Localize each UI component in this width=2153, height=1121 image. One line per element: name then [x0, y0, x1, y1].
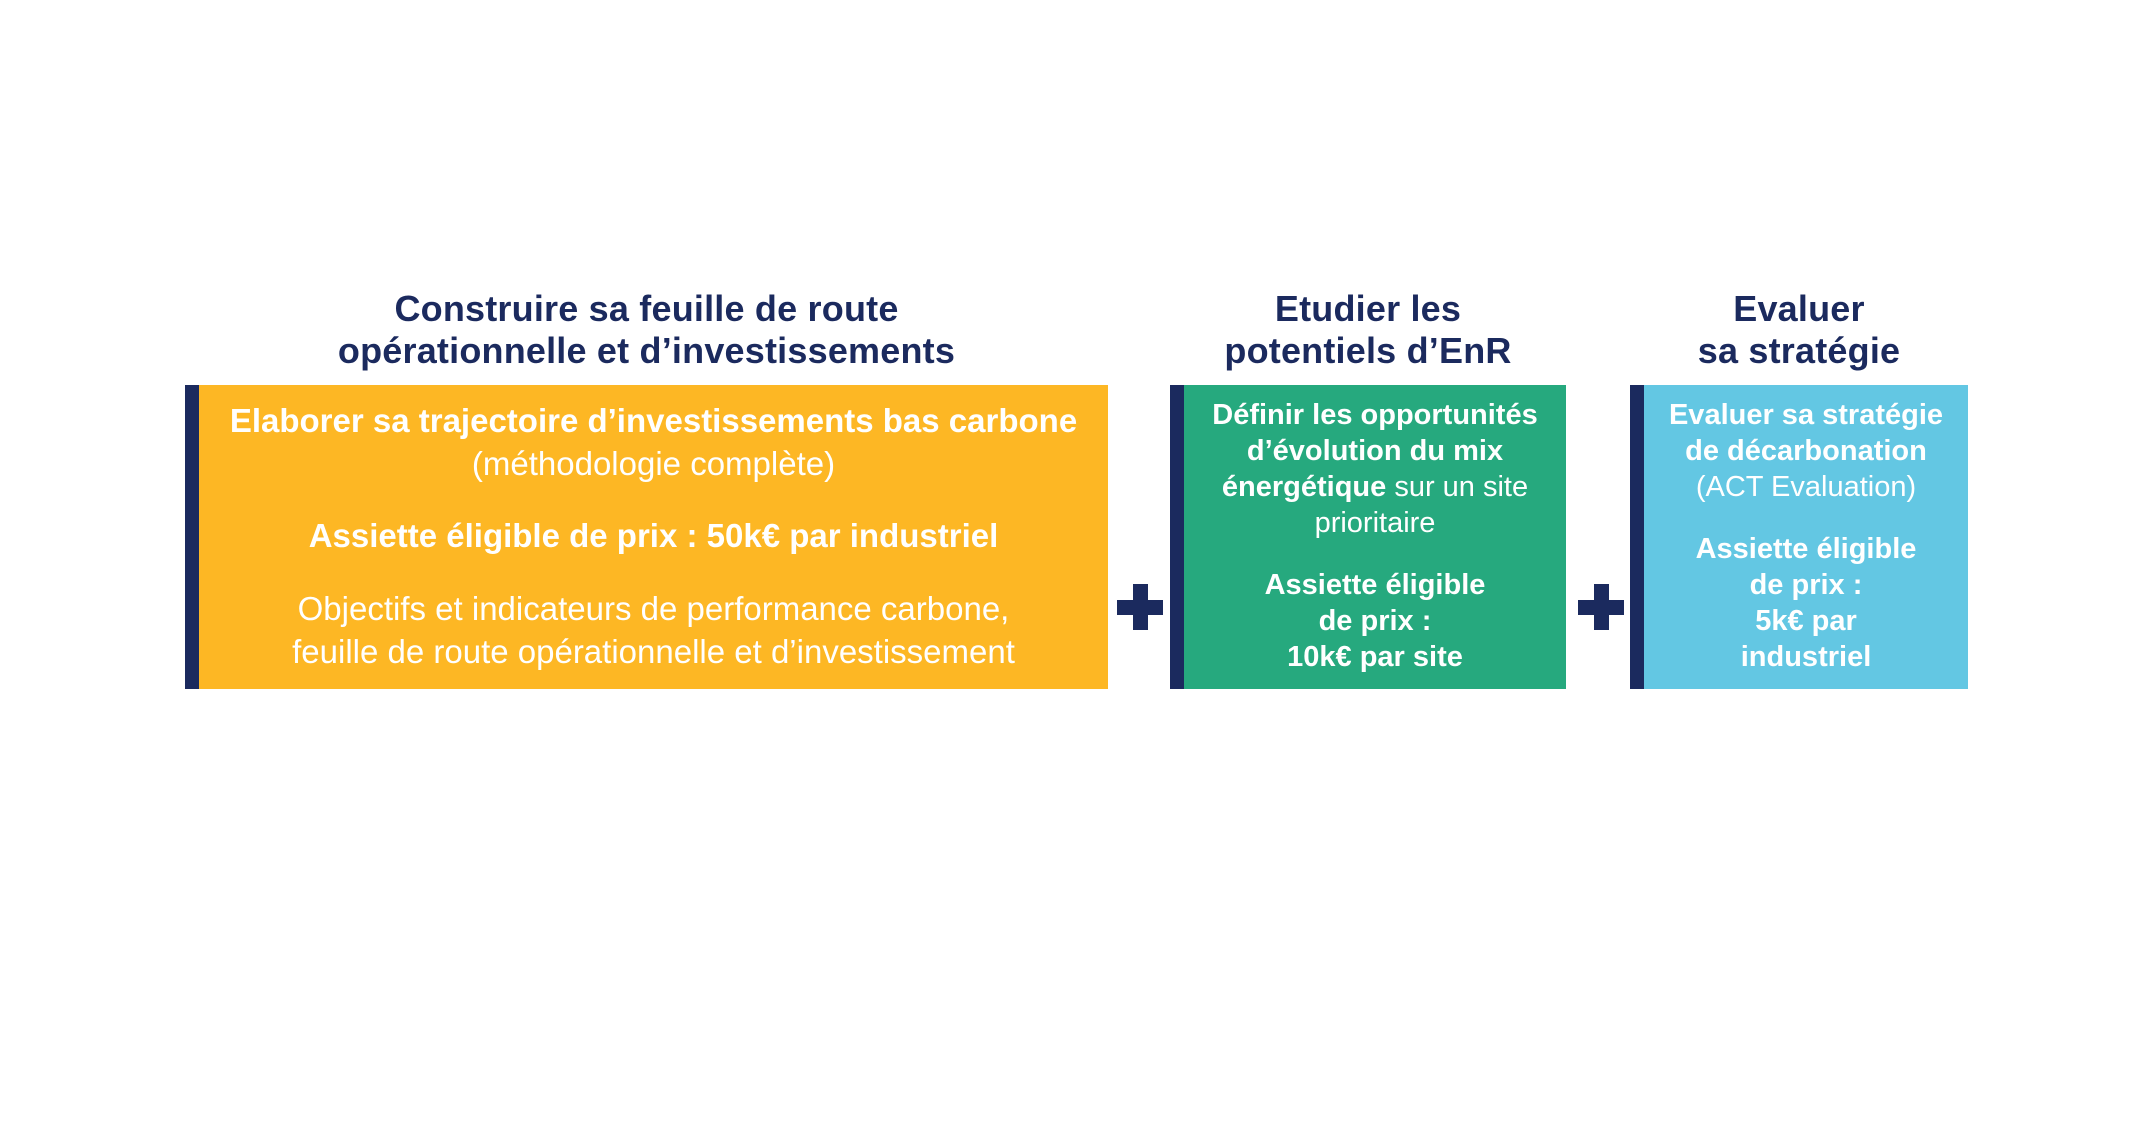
heading-line: opérationnelle et d’investissements: [185, 330, 1108, 372]
block-regular-text: (ACT Evaluation): [1696, 471, 1916, 503]
column-heading-enr: Etudier les potentiels d’EnR: [1170, 288, 1566, 373]
spacer: [1644, 506, 1968, 532]
deliverables-line-2: feuille de route opérationnelle et d’inv…: [292, 633, 1015, 670]
panel-block-price-basis: Assiette éligible de prix : 10k€ par sit…: [1184, 568, 1566, 676]
price-line-2: de prix :: [1750, 569, 1863, 601]
price-line-2: de prix :: [1319, 605, 1432, 637]
panel-enr: Définir les opportunités d’évolution du …: [1170, 385, 1566, 689]
price-line-1: Assiette éligible: [1265, 569, 1486, 601]
panel-roadmap: Elaborer sa trajectoire d’investissement…: [185, 385, 1108, 689]
price-line-1: Assiette éligible: [1696, 533, 1917, 565]
panel-block-price-basis: Assiette éligible de prix : 50k€ par ind…: [199, 515, 1108, 558]
panel-body: Elaborer sa trajectoire d’investissement…: [185, 385, 1108, 689]
panel-block-price-basis: Assiette éligible de prix : 5k€ par indu…: [1644, 532, 1968, 676]
price-line-3: 5k€ par: [1755, 605, 1857, 637]
block-bold-text: Evaluer sa stratégie de décarbonation: [1669, 399, 1943, 467]
heading-line: Evaluer: [1630, 288, 1968, 330]
panel-body: Définir les opportunités d’évolution du …: [1170, 385, 1566, 689]
block-bold-text: Elaborer sa trajectoire d’investissement…: [230, 402, 1077, 439]
diagram-canvas: Construire sa feuille de route opération…: [0, 0, 2153, 1121]
spacer: [199, 558, 1108, 588]
panel-block-deliverables: Objectifs et indicateurs de performance …: [199, 588, 1108, 674]
column-heading-roadmap: Construire sa feuille de route opération…: [185, 288, 1108, 373]
panel-body: Evaluer sa stratégie de décarbonation (A…: [1630, 385, 1968, 689]
deliverables-line-1: Objectifs et indicateurs de performance …: [298, 590, 1010, 627]
panel-block-trajectory: Elaborer sa trajectoire d’investissement…: [199, 400, 1108, 486]
heading-line: sa stratégie: [1630, 330, 1968, 372]
block-regular-text: (méthodologie complète): [472, 445, 835, 482]
column-heading-strategy: Evaluer sa stratégie: [1630, 288, 1968, 373]
spacer: [199, 485, 1108, 515]
panel-block-evaluation: Evaluer sa stratégie de décarbonation (A…: [1644, 398, 1968, 506]
panel-strategy: Evaluer sa stratégie de décarbonation (A…: [1630, 385, 1968, 689]
heading-line: Construire sa feuille de route: [185, 288, 1108, 330]
column-strategy: Evaluer sa stratégie Evaluer sa stratégi…: [1630, 288, 1968, 689]
plus-connector-icon: [1578, 584, 1624, 630]
column-enr: Etudier les potentiels d’EnR Définir les…: [1170, 288, 1566, 689]
heading-line: potentiels d’EnR: [1170, 330, 1566, 372]
panel-block-opportunities: Définir les opportunités d’évolution du …: [1184, 398, 1566, 542]
spacer: [1184, 542, 1566, 568]
price-line-3: 10k€ par site: [1287, 641, 1463, 673]
heading-line: Etudier les: [1170, 288, 1566, 330]
price-line-4: industriel: [1741, 641, 1872, 673]
column-roadmap: Construire sa feuille de route opération…: [185, 288, 1108, 689]
plus-connector-icon: [1117, 584, 1163, 630]
